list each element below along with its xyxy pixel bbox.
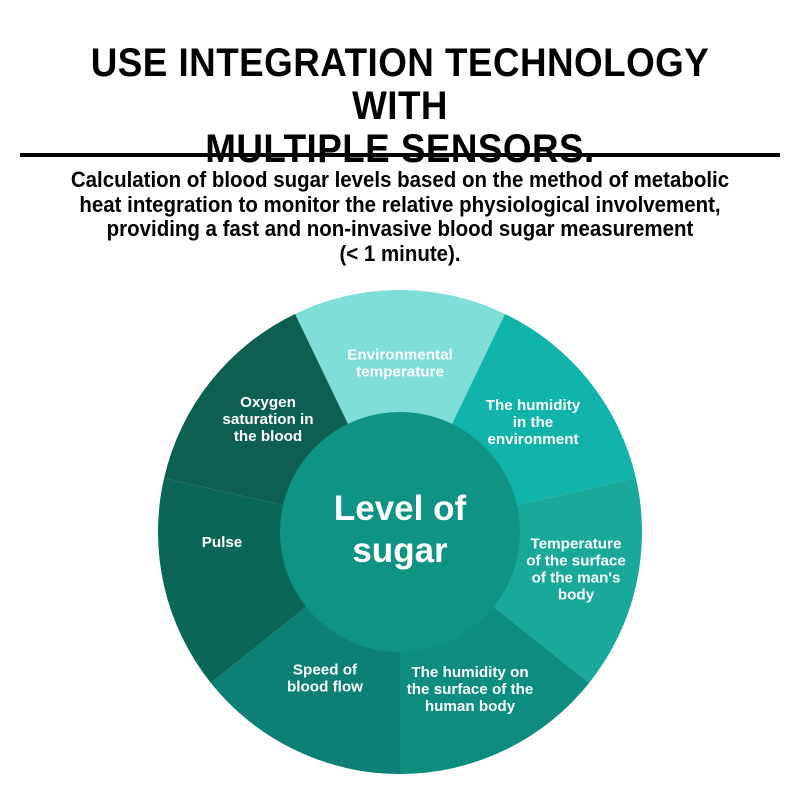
segment-label: Speed ofblood flow [287,662,363,696]
donut-chart-svg: EnvironmentaltemperatureThe humidityin t… [158,290,642,774]
infographic-page: USE INTEGRATION TECHNOLOGY WITH MULTIPLE… [0,0,800,800]
segment-label: Pulse [202,534,243,551]
page-title: USE INTEGRATION TECHNOLOGY WITH MULTIPLE… [32,0,768,172]
segment-label: Environmentaltemperature [347,347,453,381]
segment-label: The humidity onthe surface of thehuman b… [407,664,534,715]
donut-chart: EnvironmentaltemperatureThe humidityin t… [158,290,642,774]
subtitle-text: Calculation of blood sugar levels based … [45,168,756,267]
header-divider [20,153,780,157]
header: USE INTEGRATION TECHNOLOGY WITH MULTIPLE… [0,0,800,172]
